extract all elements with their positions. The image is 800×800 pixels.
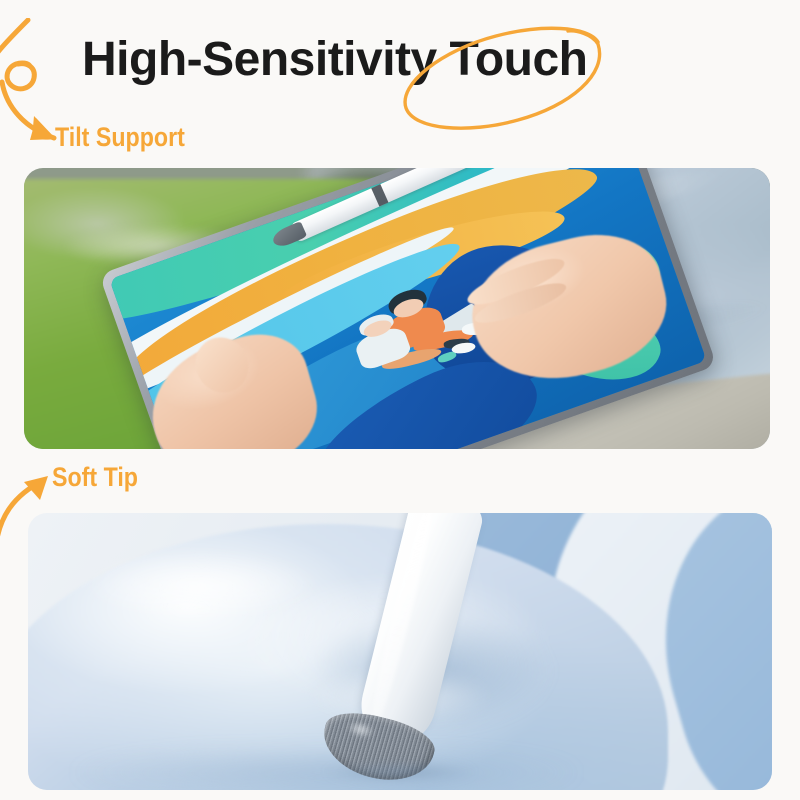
- photo-soft-tip: [28, 513, 772, 790]
- annotation-label-soft-tip: Soft Tip: [52, 462, 138, 493]
- marketing-banner: High-Sensitivity Touch Tilt Support: [0, 0, 800, 800]
- annotation-label-tilt-support: Tilt Support: [55, 122, 185, 153]
- photo-tilt-support: [24, 168, 770, 449]
- spiral-doodle-icon: [0, 18, 52, 114]
- tip-contact-shadow: [296, 762, 504, 787]
- page-title: High-Sensitivity Touch: [82, 36, 742, 84]
